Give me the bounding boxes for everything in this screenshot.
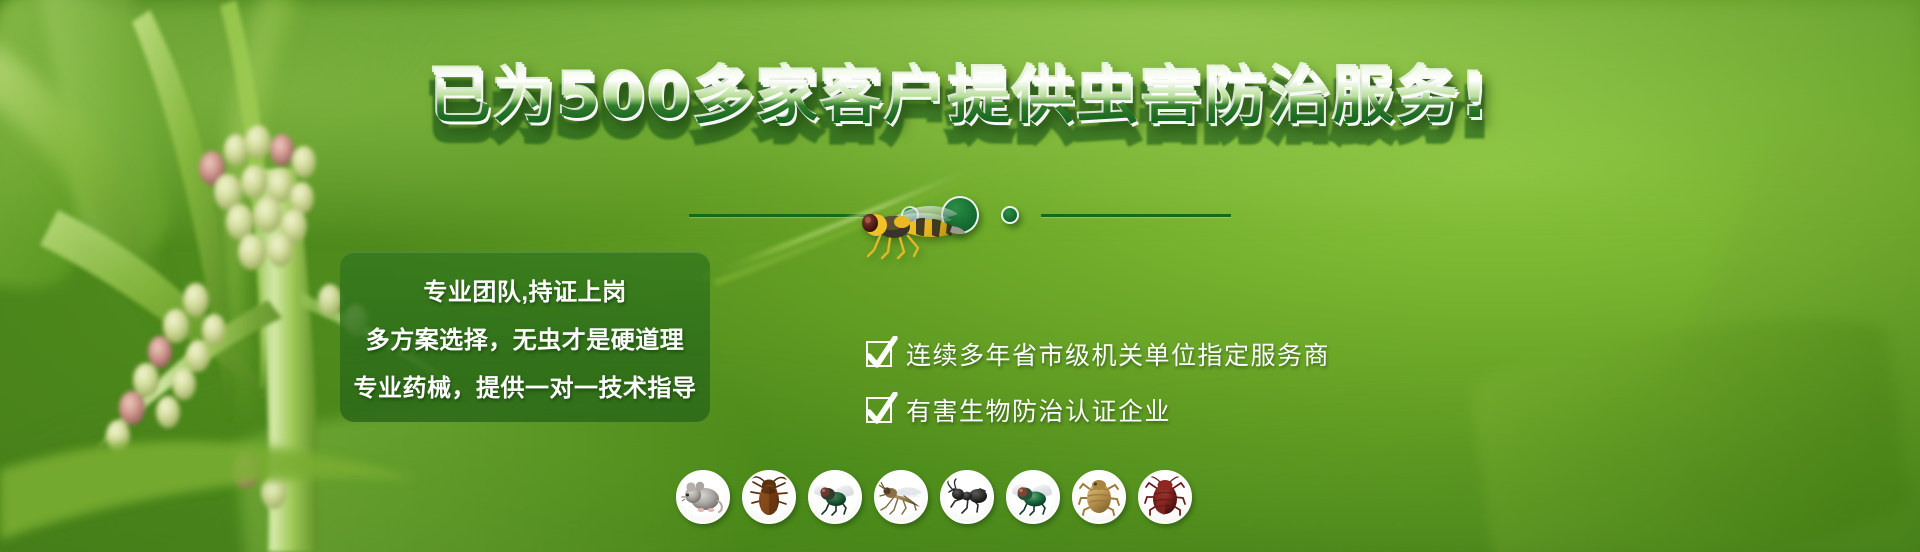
greenbottle-fly-icon[interactable] xyxy=(1006,470,1060,524)
page-title: 已为500多家客户提供虫害防治服务! xyxy=(0,64,1920,127)
feature-line-2: 多方案选择，无虫才是硬道理 xyxy=(366,320,685,355)
list-item-label: 连续多年省市级机关单位指定服务商 xyxy=(906,336,1330,372)
page-title-text: 已为500多家客户提供虫害防治服务! xyxy=(429,64,1491,127)
checkbox-checked-icon xyxy=(866,397,892,423)
mouse-icon[interactable] xyxy=(676,470,730,524)
ant-icon[interactable] xyxy=(940,470,994,524)
list-item-label: 有害生物防治认证企业 xyxy=(906,392,1171,428)
feature-line-1: 专业团队,持证上岗 xyxy=(423,272,626,307)
certification-list: 连续多年省市级机关单位指定服务商 有害生物防治认证企业 xyxy=(866,336,1330,428)
flea-icon[interactable] xyxy=(1072,470,1126,524)
mosquito-icon[interactable] xyxy=(874,470,928,524)
housefly-icon[interactable] xyxy=(808,470,862,524)
promo-banner: 已为500多家客户提供虫害防治服务! 已为500多家客户提供虫害防治服务! 专业… xyxy=(0,0,1920,552)
list-item: 连续多年省市级机关单位指定服务商 xyxy=(866,336,1330,372)
hoverfly-photo xyxy=(846,198,966,269)
checkbox-checked-icon xyxy=(866,341,892,367)
bedbug-icon[interactable] xyxy=(1138,470,1192,524)
pest-icon-row xyxy=(676,470,1192,524)
features-panel: 专业团队,持证上岗 多方案选择，无虫才是硬道理 专业药械，提供一对一技术指导 xyxy=(340,252,710,422)
cockroach-icon[interactable] xyxy=(742,470,796,524)
list-item: 有害生物防治认证企业 xyxy=(866,392,1330,428)
feature-line-3: 专业药械，提供一对一技术指导 xyxy=(354,368,697,403)
